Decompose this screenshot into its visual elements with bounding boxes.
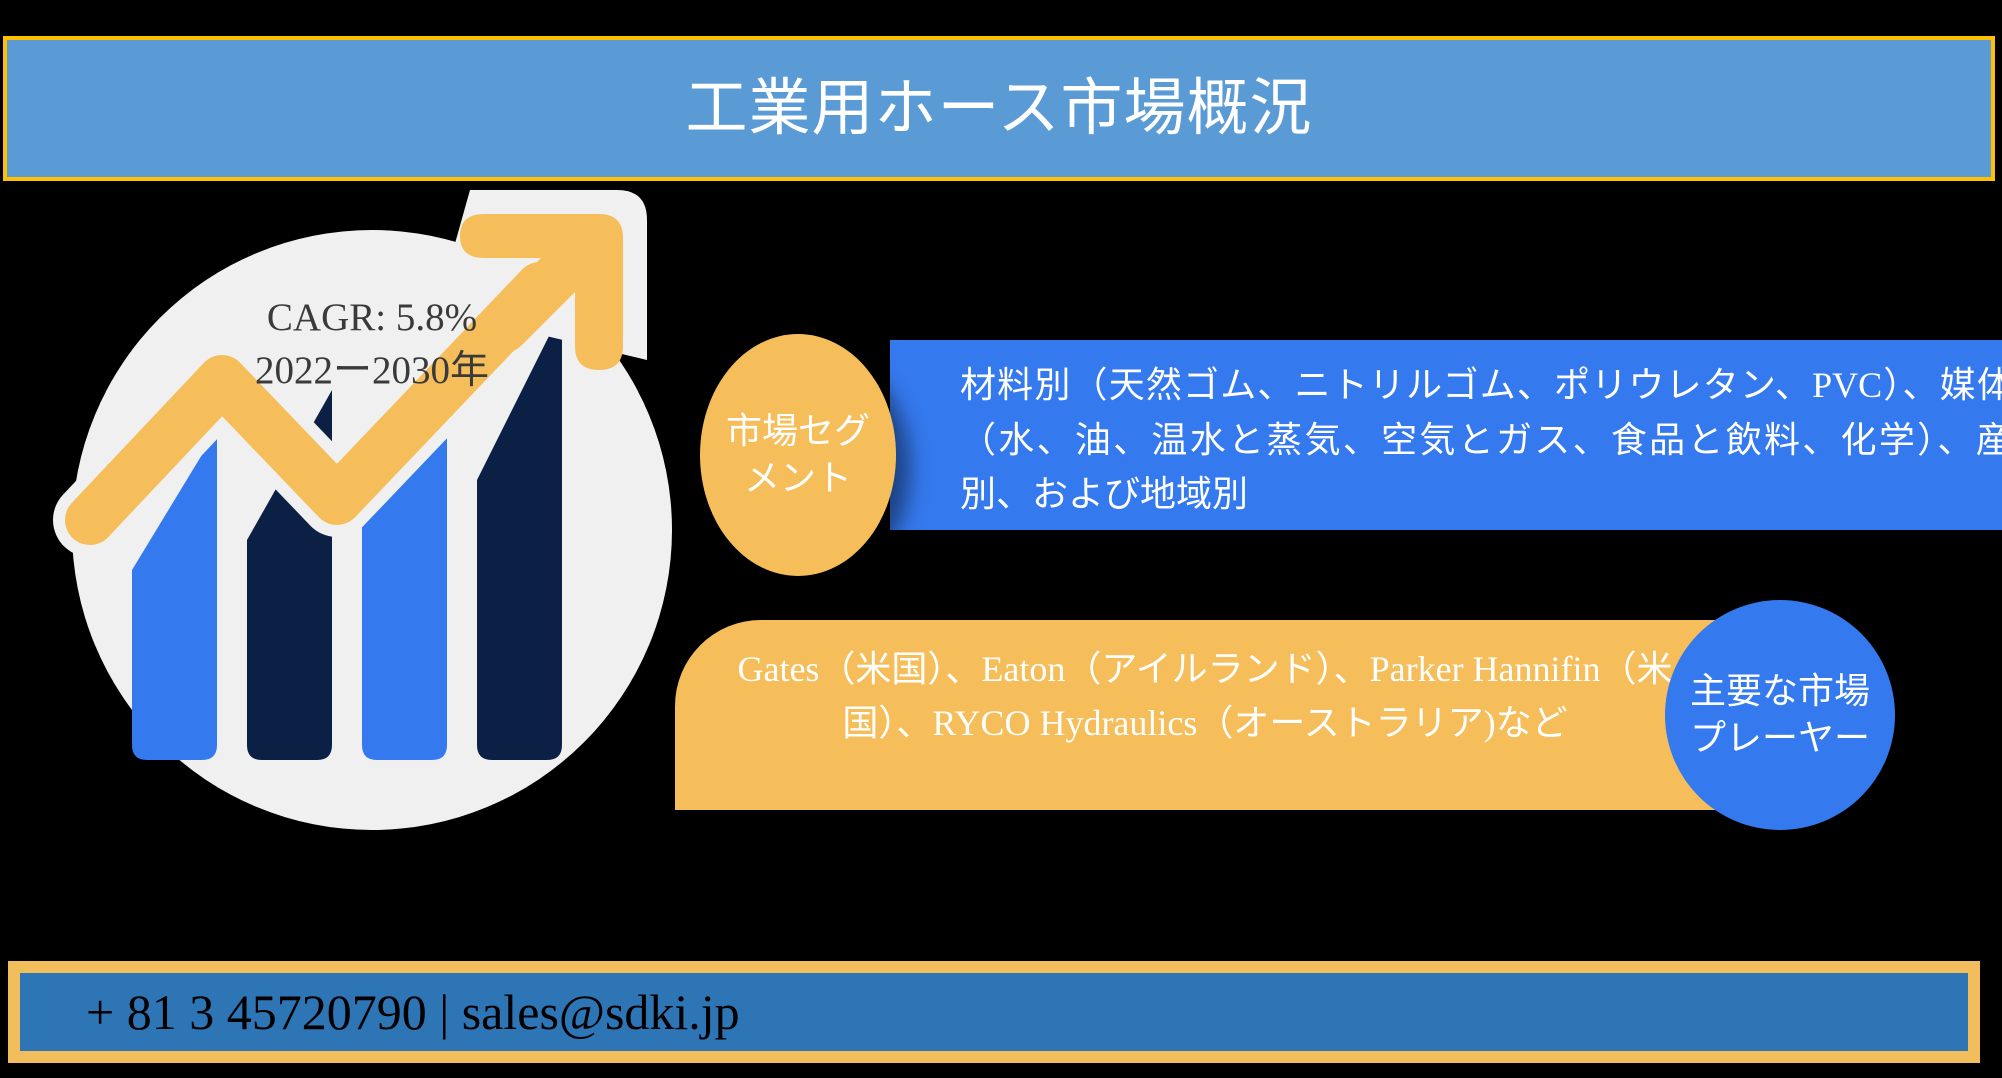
page-title: 工業用ホース市場概況 — [686, 78, 1313, 140]
key-players-bubble-label: 主要な市場プレーヤー — [1665, 668, 1895, 762]
market-segment-bubble-label: 市場セグメント — [700, 408, 896, 502]
growth-chart-illustration: CAGR: 5.8% 2022ー2030年 — [72, 230, 672, 830]
market-segment-bubble: 市場セグメント — [700, 334, 896, 576]
bar-chart-icon — [72, 230, 672, 830]
key-players-body: Gates（米国）、Eaton（アイルランド）、Parker Hannifin（… — [735, 642, 1675, 750]
market-segment-body: 材料別（天然ゴム、ニトリルゴム、ポリウレタン、PVC）、媒体別（水、油、温水と蒸… — [960, 358, 2002, 522]
contact-footer-bar: + 81 3 45720790 | sales@sdki.jp — [8, 961, 1980, 1063]
key-players-panel: Gates（米国）、Eaton（アイルランド）、Parker Hannifin（… — [675, 620, 1750, 810]
contact-info: + 81 3 45720790 | sales@sdki.jp — [20, 983, 740, 1041]
market-segment-panel: 材料別（天然ゴム、ニトリルゴム、ポリウレタン、PVC）、媒体別（水、油、温水と蒸… — [890, 340, 2002, 530]
key-players-bubble: 主要な市場プレーヤー — [1665, 600, 1895, 830]
header-banner: 工業用ホース市場概況 — [3, 36, 1995, 181]
